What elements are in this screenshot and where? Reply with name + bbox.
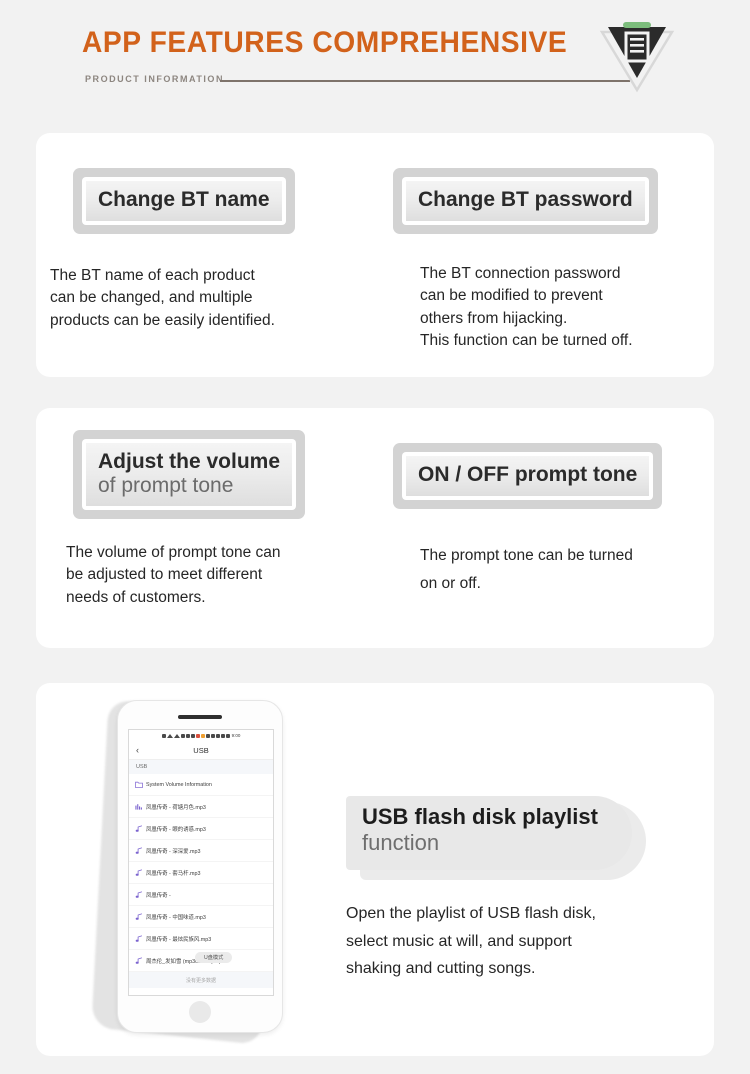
phone-list-item-label: 凤凰传奇 - (146, 891, 171, 899)
phone-list-item[interactable]: 凤凰传奇 - 最炫民族风.mp3 (129, 928, 273, 950)
feature-card-prompt-tone: Adjust the volume of prompt tone The vol… (36, 408, 714, 648)
document-triangle-logo-icon (596, 16, 678, 94)
status-icon (186, 734, 190, 738)
signal-icon (167, 734, 173, 738)
wifi-icon (181, 734, 185, 738)
header-divider (220, 80, 630, 82)
phone-speaker-icon (178, 715, 222, 719)
phone-list-item-label: 凤凰传奇 - 眼的诱惑.mp3 (146, 825, 206, 833)
phone-list-item[interactable]: System Volume Information (129, 774, 273, 796)
badge-line1: Adjust the volume (98, 450, 280, 474)
page-header: APP FEATURES COMPREHENSIVE PRODUCT INFOR… (0, 0, 750, 118)
phone-list-item[interactable]: 凤凰传奇 - (129, 884, 273, 906)
phone-home-button[interactable] (189, 1001, 211, 1023)
description-adjust-volume: The volume of prompt tone can be adjuste… (66, 542, 406, 609)
badge-line1: ON / OFF prompt tone (418, 463, 637, 487)
chevron-left-icon[interactable]: ‹ (136, 746, 139, 755)
phone-list-item[interactable]: 凤凰传奇 - 眼的诱惑.mp3 (129, 818, 273, 840)
music-note-icon (135, 869, 146, 877)
status-icon (201, 734, 205, 738)
description-change-bt-name: The BT name of each product can be chang… (50, 265, 380, 332)
phone-mockup: 9:00 ‹ USB USB System Volume Information… (117, 700, 283, 1033)
signal-icon (174, 734, 180, 738)
battery-icon (226, 734, 230, 738)
phone-list-item-label: 凤凰传奇 - 中国味道.mp3 (146, 913, 206, 921)
phone-screen: 9:00 ‹ USB USB System Volume Information… (128, 729, 274, 996)
phone-nav-title: USB (129, 746, 273, 755)
music-note-icon (135, 847, 146, 855)
badge-on-off-prompt-tone[interactable]: ON / OFF prompt tone (393, 443, 662, 509)
phone-list-item-label: 凤凰传奇 - 荷塘月色.mp3 (146, 803, 206, 811)
phone-toast: U盘模式 (195, 952, 232, 963)
badge-adjust-volume[interactable]: Adjust the volume of prompt tone (73, 430, 305, 519)
phone-list-item-label: 凤凰传奇 - 最炫民族风.mp3 (146, 935, 211, 943)
page-subtitle: PRODUCT INFORMATION (85, 74, 224, 85)
description-usb-playlist: Open the playlist of USB flash disk, sel… (346, 900, 726, 983)
badge-line1: USB flash disk playlist (362, 804, 616, 830)
music-note-icon (135, 825, 146, 833)
phone-file-list: System Volume Information凤凰传奇 - 荷塘月色.mp3… (129, 774, 273, 972)
description-change-bt-password: The BT connection password can be modifi… (420, 263, 730, 353)
status-icon (162, 734, 166, 738)
music-note-icon (135, 957, 146, 965)
phone-list-footer: 没有更多数据 (129, 972, 273, 988)
status-icon (196, 734, 200, 738)
badge-change-bt-name[interactable]: Change BT name (73, 168, 295, 234)
music-note-icon (135, 935, 146, 943)
status-icon (216, 734, 220, 738)
phone-list-item[interactable]: 凤凰传奇 - 套马杆.mp3 (129, 862, 273, 884)
status-icon (191, 734, 195, 738)
badge-line1: Change BT password (418, 188, 633, 212)
feature-card-bt: Change BT name The BT name of each produ… (36, 133, 714, 377)
status-icon (221, 734, 225, 738)
badge-change-bt-password[interactable]: Change BT password (393, 168, 658, 234)
phone-breadcrumb: USB (129, 760, 273, 774)
badge-line2: function (362, 830, 616, 856)
phone-list-item-label: System Volume Information (146, 782, 212, 788)
page-root: APP FEATURES COMPREHENSIVE PRODUCT INFOR… (0, 0, 750, 1074)
phone-nav-bar: ‹ USB (129, 741, 273, 760)
folder-icon (135, 781, 146, 788)
status-icon (206, 734, 210, 738)
equalizer-icon (135, 803, 146, 810)
music-note-icon (135, 913, 146, 921)
page-title: APP FEATURES COMPREHENSIVE (82, 26, 567, 60)
status-icon (211, 734, 215, 738)
status-time: 9:00 (232, 733, 241, 738)
description-on-off-prompt-tone: The prompt tone can be turned on or off. (420, 542, 740, 597)
music-note-icon (135, 891, 146, 899)
phone-list-item[interactable]: 凤凰传奇 - 深深爱.mp3 (129, 840, 273, 862)
phone-list-item-label: 凤凰传奇 - 深深爱.mp3 (146, 847, 201, 855)
badge-line1: Change BT name (98, 188, 270, 212)
phone-list-item[interactable]: 凤凰传奇 - 中国味道.mp3 (129, 906, 273, 928)
phone-status-bar: 9:00 (129, 730, 273, 741)
phone-list-item[interactable]: 凤凰传奇 - 荷塘月色.mp3 (129, 796, 273, 818)
badge-usb-playlist[interactable]: USB flash disk playlist function (346, 796, 632, 870)
badge-line2: of prompt tone (98, 474, 280, 498)
phone-list-item-label: 凤凰传奇 - 套马杆.mp3 (146, 869, 201, 877)
